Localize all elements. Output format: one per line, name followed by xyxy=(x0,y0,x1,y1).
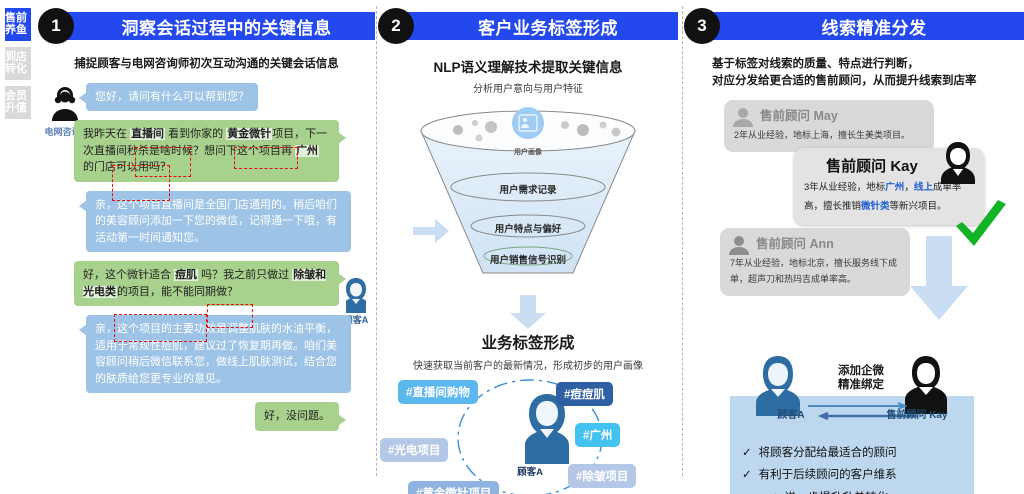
binding-label-customer: 顾客A xyxy=(756,406,826,421)
msg-part: 的门店可以用吗？ xyxy=(83,161,171,173)
tag-section-subtitle: 快速获取当前客户的最新情况，形成初步的用户画像 xyxy=(378,357,678,372)
divider-1-2 xyxy=(376,6,377,476)
binding-label-advisor: 售前顾问 Kay xyxy=(874,406,960,421)
chat-bubble-customer: 好，这个微针适合 痘肌 吗？我之前只做过 除皱和光电类的项目，能不能同期做？ xyxy=(74,261,339,306)
selected-check-icon xyxy=(950,200,1012,261)
check-glyph-icon: ✓ xyxy=(742,447,752,459)
chat-bubble-customer: 我昨天在 直播间 看到你家的 黄金微针项目，下一次直播间秒杀是啥时候？想问下这个… xyxy=(74,120,339,182)
msg-highlight-guangzhou: 广州 xyxy=(295,145,319,157)
binding-action-line2: 精准绑定 xyxy=(826,378,896,392)
msg-part: 好，这个微针适合 xyxy=(83,269,174,281)
chat-row: 您好，请问有什么可以帮到您？ xyxy=(38,83,375,112)
advisor-avatar-icon xyxy=(732,107,754,132)
benefit-list: ✓将顾客分配给最适合的顾问 ✓有利于后续顾问的客户维系 ✓进一步提升升单转化 xyxy=(742,442,962,494)
msg-highlight-acne-skin: 痘肌 xyxy=(174,269,198,281)
tag-photoelectric[interactable]: #光电项目 xyxy=(380,438,448,462)
panel-tagging: 客户业务标签形成 2 NLP语义理解技术提取关键信息 分析用户意向与用户特征 xyxy=(378,0,678,494)
binding-zone: 添加企微 精准绑定 顾客A 售前顾问 Kay ✓将顾客分配给最适合的顾问 xyxy=(730,360,974,494)
advisor-avatar-kay-icon xyxy=(938,140,978,189)
panel-2-step-badge: 2 xyxy=(378,8,414,44)
chat-bubble-customer: 好，没问题。 xyxy=(255,402,339,431)
msg-highlight-livestream: 直播间 xyxy=(130,128,165,140)
kay-desc-highlight-online: 线上 xyxy=(914,182,933,193)
advisor-name-ann: 售前顾问 Ann xyxy=(730,234,900,254)
rail-tab-presale[interactable]: 售前养鱼 xyxy=(5,8,31,41)
rail-tab-presale-label: 售前养鱼 xyxy=(5,13,31,36)
advisor-card-may[interactable]: 售前顾问 May 2年从业经验，地标上海，擅长生美类项目。 xyxy=(724,100,934,152)
panel-3-header: 线索精准分发 3 xyxy=(684,12,1024,42)
panel-2-subtitle-main: NLP语义理解技术提取关键信息 xyxy=(378,58,678,78)
rail-tab-member-upsell-label: 会员升值 xyxy=(5,91,31,114)
panel-1-subtitle: 捕捉顾客与电网咨询师初次互动沟通的关键会话信息 xyxy=(38,56,375,73)
panel-1-step-badge: 1 xyxy=(38,8,74,44)
panel-distribution: 线索精准分发 3 基于标签对线索的质量、特点进行判断， 对应分发给更合适的售前顾… xyxy=(684,0,1024,494)
rail-tab-member-upsell[interactable]: 会员升值 xyxy=(5,86,31,119)
kay-desc-part: ， xyxy=(904,182,914,193)
rail-tab-store-conversion[interactable]: 到店转化 xyxy=(5,47,31,80)
benefit-text: 有利于后续顾问的客户维系 xyxy=(759,469,897,481)
kay-desc-highlight-microneedle: 微针类 xyxy=(861,201,890,212)
panel-2-subtitle-sub: 分析用户意向与用户特征 xyxy=(378,80,678,95)
tag-wrinkle-project[interactable]: #除皱项目 xyxy=(568,464,636,488)
benefit-text: 将顾客分配给最适合的顾问 xyxy=(759,447,897,459)
chat-row: 亲，这个项目的主要功效是调整肌肤的水油平衡，适用于常规性痘肌，建议过了恢复期再做… xyxy=(38,315,375,393)
msg-highlight-gold-needle: 黄金微针 xyxy=(226,128,272,140)
check-glyph-icon: ✓ xyxy=(742,469,752,481)
msg-part: 看到你家的 xyxy=(165,128,226,140)
advisor-avatar-icon xyxy=(728,235,750,260)
msg-part: 的项目，能不能同期做？ xyxy=(117,286,238,298)
tag-section-title: 业务标签形成 xyxy=(378,331,678,353)
panel-3-title: 线索精准分发 xyxy=(706,12,1024,40)
benefit-item: ✓有利于后续顾问的客户维系 xyxy=(742,464,962,486)
divider-2-3 xyxy=(682,6,683,476)
panel-1-title: 洞察会话过程中的关键信息 xyxy=(60,12,375,40)
kay-desc-part: 等新兴项目。 xyxy=(890,201,947,212)
funnel-label-traits: 用户特点与偏好 xyxy=(378,221,678,235)
tag-cloud: 顾客A #直播间购物 #痘痘肌 #广州 #除皱项目 #光电项目 #黄金微针项目 xyxy=(378,376,678,494)
binding-action-line1: 添加企微 xyxy=(826,364,896,378)
chat-transcript: 电网咨询师 顾客A 您好，请问有什么可以帮到您？ 我昨天在 直播间 看到你家的 … xyxy=(38,83,375,431)
panel-3-subtitle-line1: 基于标签对线索的质量、特点进行判断， xyxy=(712,56,1024,73)
binding-action-label: 添加企微 精准绑定 xyxy=(826,364,896,393)
chat-bubble-agent: 亲，这个项目直播间是全国门店通用的。稍后咱们的美容顾问添加一下您的微信，记得通一… xyxy=(86,191,351,253)
funnel-label-needs: 用户需求记录 xyxy=(378,182,678,196)
funnel-label-portrait: 用户画像 xyxy=(378,147,678,157)
advisor-desc-ann: 7年从业经验，地标北京，擅长服务线下成单，超声刀和热玛吉成单率高。 xyxy=(730,256,900,288)
chat-bubble-agent: 亲，这个项目的主要功效是调整肌肤的水油平衡，适用于常规性痘肌，建议过了恢复期再做… xyxy=(86,315,351,393)
benefit-item: ✓将顾客分配给最适合的顾问 xyxy=(742,442,962,464)
kay-desc-highlight-city: 广州 xyxy=(885,182,904,193)
tag-guangzhou[interactable]: #广州 xyxy=(575,423,620,447)
funnel-diagram: 用户画像 用户需求记录 用户特点与偏好 用户销售信号识别 xyxy=(378,103,678,293)
benefit-item: ✓进一步提升升单转化 xyxy=(742,487,962,494)
tag-center-label: 顾客A xyxy=(500,464,560,478)
chat-row: 我昨天在 直播间 看到你家的 黄金微针项目，下一次直播间秒杀是啥时候？想问下这个… xyxy=(38,120,375,182)
rail-tab-store-conversion-label: 到店转化 xyxy=(5,52,31,75)
panel-3-subtitle: 基于标签对线索的质量、特点进行判断， 对应分发给更合适的售前顾问，从而提升线索到… xyxy=(684,56,1024,89)
msg-part: 吗？我之前只做过 xyxy=(198,269,292,281)
advisor-card-ann[interactable]: 售前顾问 Ann 7年从业经验，地标北京，擅长服务线下成单，超声刀和热玛吉成单率… xyxy=(720,228,910,296)
stage-rail: 售前养鱼 到店转化 会员升值 xyxy=(5,8,31,308)
tag-gold-microneedle[interactable]: #黄金微针项目 xyxy=(408,481,499,494)
slide-root: 售前养鱼 到店转化 会员升值 洞察会话过程中的关键信息 1 捕捉顾客与电网咨询师… xyxy=(0,0,1024,494)
panel-3-subtitle-line2: 对应分发给更合适的售前顾问，从而提升线索到店率 xyxy=(712,73,1024,90)
msg-part: 我昨天在 xyxy=(83,128,130,140)
chat-row: 好，没问题。 xyxy=(38,402,375,431)
advisor-name-may: 售前顾问 May xyxy=(734,106,924,126)
tag-acne-skin[interactable]: #痘痘肌 xyxy=(556,382,613,406)
panel-1-header: 洞察会话过程中的关键信息 1 xyxy=(38,12,375,42)
kay-desc-part: 3年从业经验，地标 xyxy=(804,182,885,193)
panel-2-header: 客户业务标签形成 2 xyxy=(378,12,678,42)
chat-bubble-agent: 您好，请问有什么可以帮到您？ xyxy=(86,83,258,112)
panel-insight: 洞察会话过程中的关键信息 1 捕捉顾客与电网咨询师初次互动沟通的关键会话信息 电… xyxy=(38,0,375,494)
chat-row: 亲，这个项目直播间是全国门店通用的。稍后咱们的美容顾问添加一下您的微信，记得通一… xyxy=(38,191,375,253)
flow-arrow-down xyxy=(378,295,678,329)
chat-row: 好，这个微针适合 痘肌 吗？我之前只做过 除皱和光电类的项目，能不能同期做？ xyxy=(38,261,375,306)
panel-2-title: 客户业务标签形成 xyxy=(400,12,678,40)
advisor-desc-may: 2年从业经验，地标上海，擅长生美类项目。 xyxy=(734,128,924,144)
funnel-label-signals: 用户销售信号识别 xyxy=(378,252,678,266)
tag-livestream-shopping[interactable]: #直播间购物 xyxy=(398,380,478,404)
panel-3-step-badge: 3 xyxy=(684,8,720,44)
